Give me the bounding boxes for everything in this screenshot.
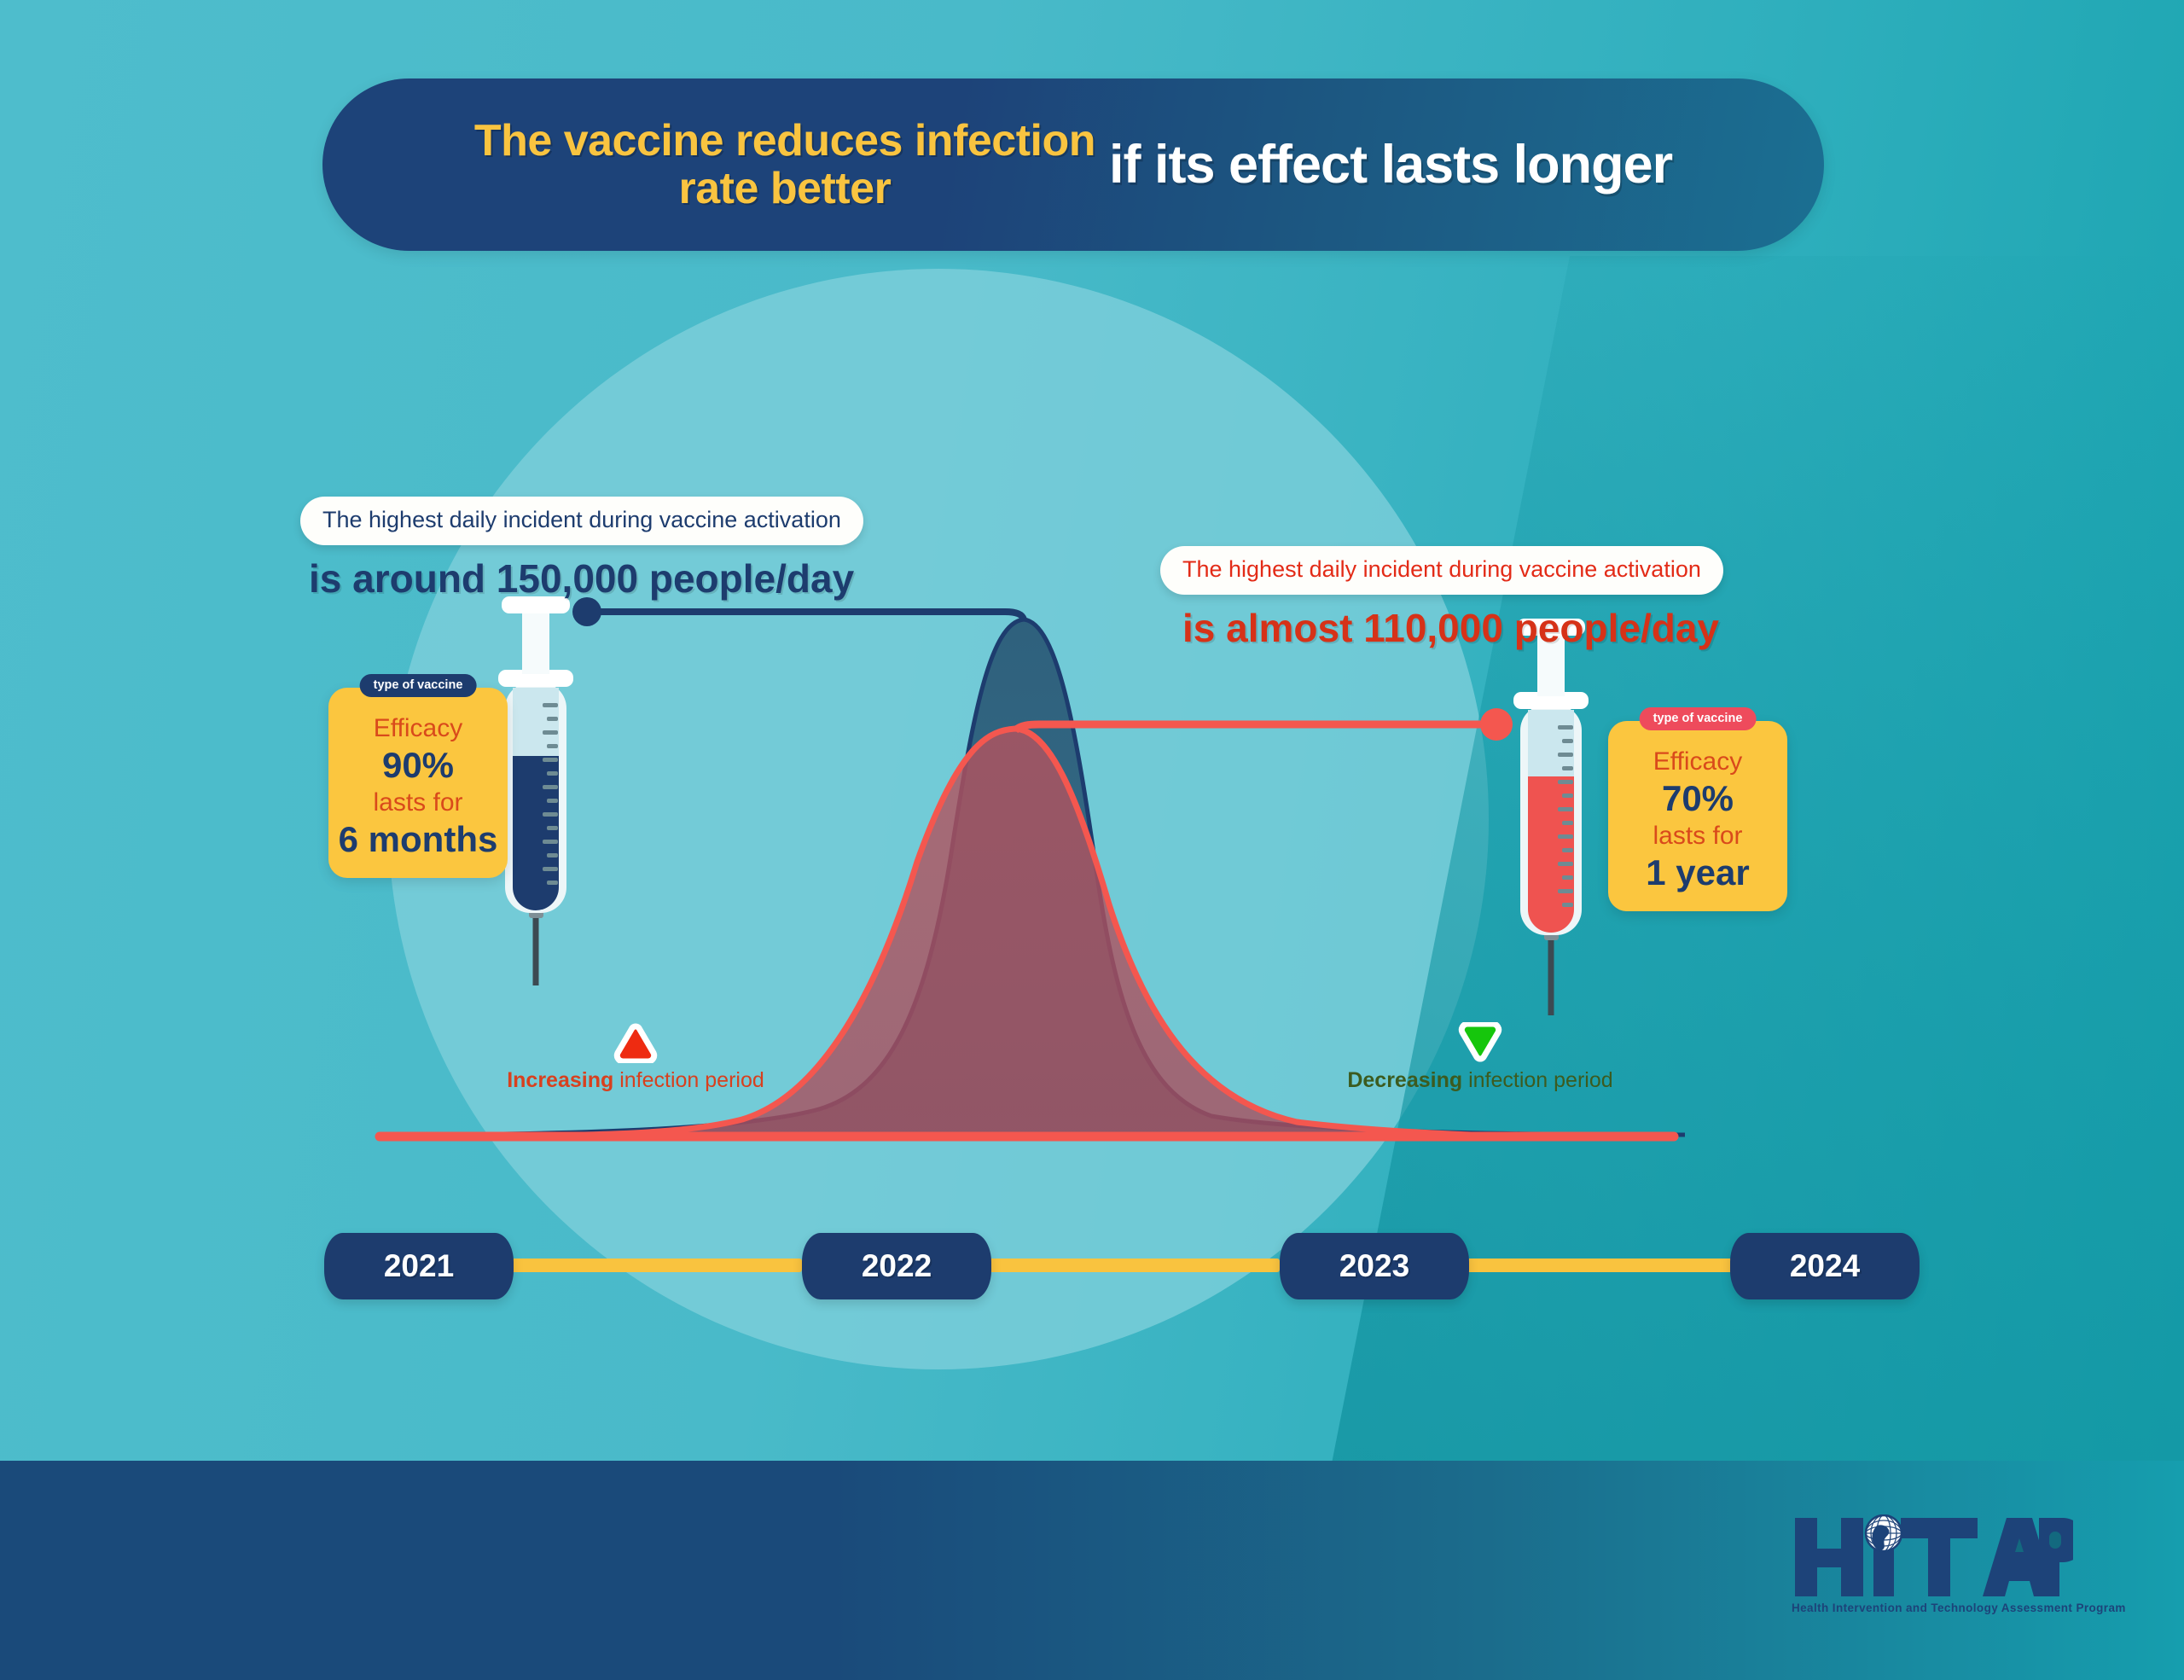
title-inner: The vaccine reduces infection rate bette… [427,117,1720,212]
efficacy-percent-left: 90% [337,743,499,787]
timeline-segment-2 [985,1259,1280,1272]
down-triangle-icon [1457,1022,1503,1063]
period-increasing-text: Increasing infection period [473,1068,798,1093]
period-increasing: Increasing infection period [473,1022,798,1093]
period-increasing-strong: Increasing [507,1068,613,1092]
timeline-segment-3 [1463,1259,1757,1272]
vaccine-type-badge-right: type of vaccine [1640,707,1757,730]
title-yellow-line2: rate better [474,165,1095,212]
duration-value-left: 6 months [337,817,499,861]
lasts-for-label-left: lasts for [337,788,499,817]
efficacy-card-right: type of vaccine Efficacy 70% lasts for 1… [1608,721,1787,911]
efficacy-percent-right: 70% [1617,776,1779,820]
period-decreasing-strong: Decreasing [1347,1068,1462,1092]
timeline-year-2022[interactable]: 2022 [802,1233,991,1299]
period-decreasing: Decreasing infection period [1318,1022,1642,1093]
hitap-wordmark-svg [1792,1514,2073,1600]
callout-right: The highest daily incident during vaccin… [1160,546,1723,651]
infographic-canvas: The vaccine reduces infection rate bette… [0,0,2184,1680]
year-timeline: 2021 2022 2023 2024 [324,1233,1920,1299]
vaccine-type-badge-left: type of vaccine [360,674,477,697]
down-triangle-wrap [1318,1022,1642,1063]
efficacy-label-left: Efficacy [337,713,499,743]
efficacy-label-right: Efficacy [1617,747,1779,776]
title-yellow-text: The vaccine reduces infection rate bette… [474,117,1095,212]
title-yellow-line1: The vaccine reduces infection [474,117,1095,165]
hitap-logo: Health Intervention and Technology Asses… [1792,1514,2073,1630]
timeline-year-2021[interactable]: 2021 [324,1233,514,1299]
hitap-tagline: Health Intervention and Technology Asses… [1792,1602,2073,1614]
callout-left-pill: The highest daily incident during vaccin… [300,497,863,545]
title-banner: The vaccine reduces infection rate bette… [322,78,1824,251]
lasts-for-label-right: lasts for [1617,821,1779,851]
title-white-text: if its effect lasts longer [1109,137,1672,193]
callout-left: The highest daily incident during vaccin… [300,497,863,602]
timeline-year-2023[interactable]: 2023 [1280,1233,1469,1299]
period-increasing-rest: infection period [613,1068,764,1092]
duration-value-right: 1 year [1617,851,1779,894]
callout-right-pill: The highest daily incident during vaccin… [1160,546,1723,595]
up-triangle-wrap [473,1022,798,1063]
callout-right-headline: is almost 110,000 people/day [1160,605,1723,651]
background-circle [388,269,1489,1369]
period-decreasing-rest: infection period [1462,1068,1613,1092]
timeline-segment-1 [508,1259,802,1272]
efficacy-card-left: type of vaccine Efficacy 90% lasts for 6… [328,688,508,878]
period-decreasing-text: Decreasing infection period [1318,1068,1642,1093]
hitap-wordmark [1792,1514,2073,1600]
up-triangle-icon [613,1022,659,1063]
callout-left-headline: is around 150,000 people/day [300,555,863,602]
timeline-year-2024[interactable]: 2024 [1730,1233,1920,1299]
